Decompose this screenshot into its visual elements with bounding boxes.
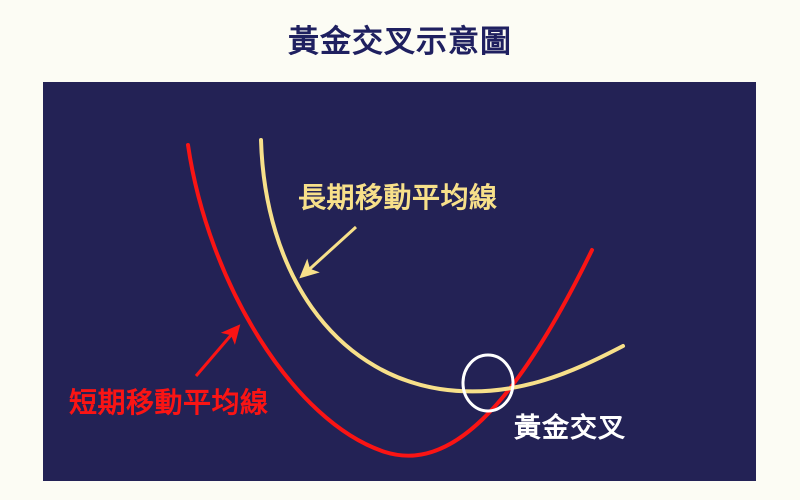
golden-cross-marker-icon <box>463 355 513 411</box>
plot-svg <box>43 82 756 481</box>
long-ma-arrow-icon <box>302 227 356 276</box>
long-ma-label: 長期移動平均線 <box>298 184 498 212</box>
golden-cross-label: 黃金交叉 <box>514 415 626 442</box>
short-ma-label: 短期移動平均線 <box>69 389 269 417</box>
page-title: 黃金交叉示意圖 <box>0 22 800 62</box>
plot-panel: 長期移動平均線 短期移動平均線 黃金交叉 <box>43 82 756 481</box>
short-ma-arrow-icon <box>196 327 238 376</box>
chart-root: 黃金交叉示意圖 長期移動平均線 短期移動平均線 <box>0 0 800 500</box>
